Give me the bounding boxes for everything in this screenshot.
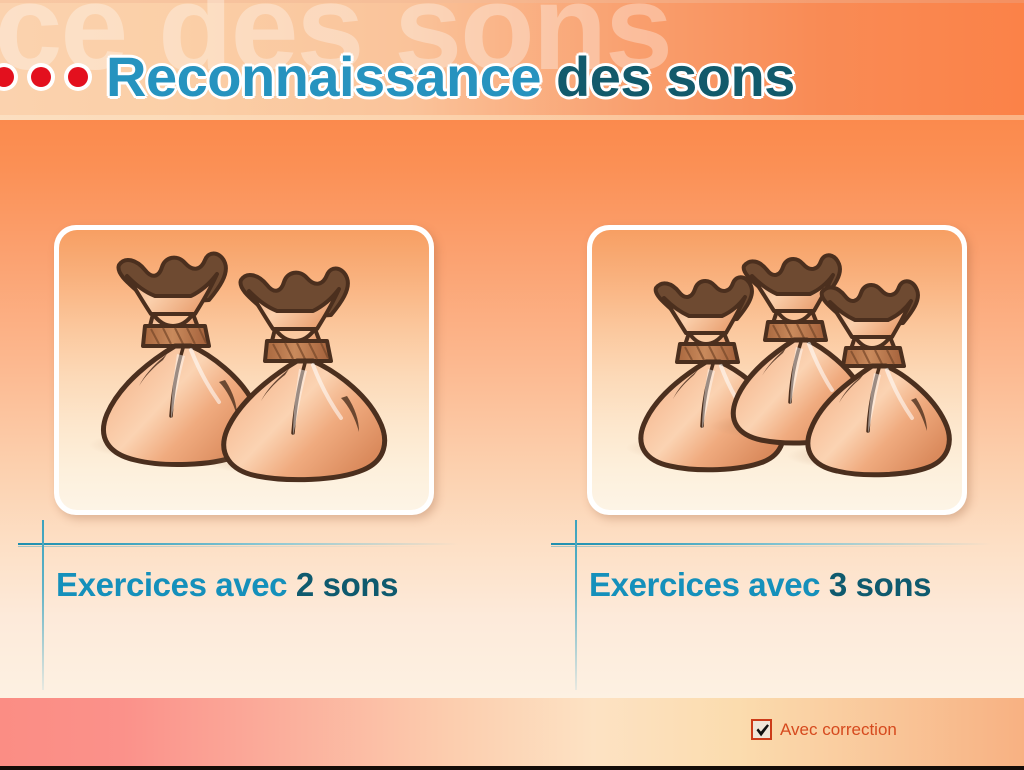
caption-main-text: Exercices avec xyxy=(56,566,296,603)
caption-accent-text: 2 sons xyxy=(296,566,398,603)
correction-checkbox[interactable] xyxy=(751,719,772,740)
caption-rule-horizontal xyxy=(18,543,458,545)
card-three-bags-inner xyxy=(592,230,962,510)
caption-main-text: Exercices avec xyxy=(589,566,829,603)
card-two-bags-inner xyxy=(59,230,429,510)
column-exercices-3-sons[interactable]: Exercices avec 3 sons xyxy=(543,120,1007,698)
card-two-bags[interactable] xyxy=(54,225,434,515)
page-title: Reconnaissance des sons xyxy=(106,49,795,105)
slide-header: nce des sons Reconnaissance des sons xyxy=(0,0,1024,120)
title-row: Reconnaissance des sons xyxy=(0,44,1024,110)
caption-accent-text: 3 sons xyxy=(829,566,931,603)
two-bags-illustration xyxy=(59,230,429,510)
title-dot-icon xyxy=(0,67,14,87)
check-icon xyxy=(754,722,771,739)
caption-rule-vertical xyxy=(575,520,577,690)
caption-rule-horizontal xyxy=(551,543,991,545)
caption-rule-horizontal-soft xyxy=(551,546,971,547)
caption-exercices-2-sons[interactable]: Exercices avec 2 sons xyxy=(56,568,398,601)
caption-exercices-3-sons[interactable]: Exercices avec 3 sons xyxy=(589,568,931,601)
caption-rule-vertical xyxy=(42,520,44,690)
card-three-bags[interactable] xyxy=(587,225,967,515)
slide-body: Exercices avec 2 sons xyxy=(0,120,1024,698)
correction-label: Avec correction xyxy=(780,720,897,740)
page-title-main: Reconnaissance xyxy=(106,45,541,108)
footer-bottom-border xyxy=(0,766,1024,770)
title-dot-group xyxy=(0,67,106,87)
correction-toggle[interactable]: Avec correction xyxy=(751,719,897,740)
page-title-accent: des sons xyxy=(541,45,795,108)
column-exercices-2-sons[interactable]: Exercices avec 2 sons xyxy=(10,120,474,698)
slide-root: nce des sons Reconnaissance des sons xyxy=(0,0,1024,770)
title-dot-icon xyxy=(68,67,88,87)
header-top-rule xyxy=(0,0,1024,3)
title-dot-icon xyxy=(31,67,51,87)
three-bags-illustration xyxy=(592,230,962,510)
caption-rule-horizontal-soft xyxy=(18,546,438,547)
